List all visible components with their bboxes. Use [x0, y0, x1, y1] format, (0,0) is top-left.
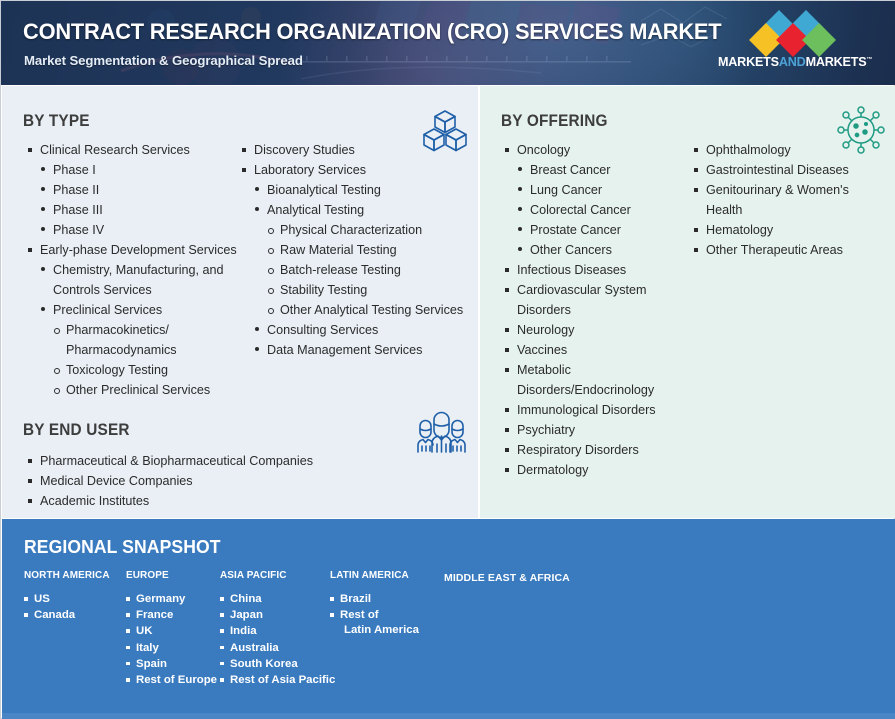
logo-trademark: ™ [866, 57, 872, 63]
list-item: Phase I [27, 160, 237, 180]
by-type-list-column-2: Discovery StudiesLaboratory ServicesBioa… [241, 140, 471, 360]
regional-country-item: Rest of [330, 607, 419, 623]
list-item: Phase IV [27, 220, 237, 240]
regional-snapshot-panel: REGIONAL SNAPSHOT NORTH AMERICAUSCanadaE… [2, 519, 895, 719]
regional-column: ASIA PACIFICChinaJapanIndiaAustraliaSout… [220, 569, 335, 688]
regional-country-item: Japan [220, 607, 335, 623]
list-item: Hematology [693, 220, 883, 240]
regional-country-list: USCanada [24, 591, 114, 623]
list-item: Neurology [504, 320, 684, 340]
logo-word-markets-2: MARKETS [806, 55, 867, 69]
list-item: Physical Characterization [241, 220, 471, 240]
list-item: Psychiatry [504, 420, 684, 440]
regional-country-item: India [220, 623, 335, 639]
regional-country-item: South Korea [220, 656, 335, 672]
logo-word-and: AND [779, 55, 806, 69]
regional-country-item: Italy [126, 640, 217, 656]
regional-column-title: ASIA PACIFIC [220, 569, 330, 581]
list-item: Infectious Diseases [504, 260, 684, 280]
list-item: Bioanalytical Testing [241, 180, 471, 200]
list-item: Colorectal Cancer [504, 200, 684, 220]
regional-column: EUROPEGermanyFranceUKItalySpainRest of E… [126, 569, 217, 688]
by-offering-title: BY OFFERING [501, 112, 608, 131]
regional-country-item: Canada [24, 607, 114, 623]
list-item: Vaccines [504, 340, 684, 360]
list-item: Other Therapeutic Areas [693, 240, 883, 260]
page-title: CONTRACT RESEARCH ORGANIZATION (CRO) SER… [23, 19, 721, 45]
by-offering-list-column-1: OncologyBreast CancerLung CancerColorect… [504, 140, 684, 480]
list-item: Genitourinary & Women's Health [693, 180, 883, 220]
logo-diamonds-icon [718, 15, 868, 53]
regional-column: LATIN AMERICABrazilRest ofLatin America [330, 569, 419, 639]
by-end-user-list: Pharmaceutical & Biopharmaceutical Compa… [27, 451, 447, 511]
regional-country-item: Rest of Asia Pacific [220, 672, 335, 688]
logo-word-markets-1: MARKETS [718, 55, 779, 69]
list-item: Phase III [27, 200, 237, 220]
regional-column-title: EUROPE [126, 569, 212, 581]
list-item: Immunological Disorders [504, 400, 684, 420]
list-item: Early-phase Development Services [27, 240, 237, 260]
by-type-title: BY TYPE [23, 112, 90, 131]
list-item: Other Cancers [504, 240, 684, 260]
regional-country-item: US [24, 591, 114, 607]
list-item: Prostate Cancer [504, 220, 684, 240]
regional-country-list: GermanyFranceUKItalySpainRest of Europe [126, 591, 217, 688]
list-item: Laboratory Services [241, 160, 471, 180]
list-item: Ophthalmology [693, 140, 883, 160]
regional-country-item: France [126, 607, 217, 623]
list-item: Clinical Research Services [27, 140, 237, 160]
regional-country-list: BrazilRest ofLatin America [330, 591, 419, 639]
regional-country-item: Brazil [330, 591, 419, 607]
regional-country-item: Germany [126, 591, 217, 607]
list-item: Phase II [27, 180, 237, 200]
regional-country-item: Rest of Europe [126, 672, 217, 688]
brand-logo: MARKETSANDMARKETS™ [718, 15, 868, 73]
regional-column-title: NORTH AMERICA [24, 569, 110, 581]
page-subtitle: Market Segmentation & Geographical Sprea… [24, 53, 303, 68]
logo-wordmark: MARKETSANDMARKETS™ [718, 55, 868, 69]
list-item: Respiratory Disorders [504, 440, 684, 460]
list-item: Data Management Services [241, 340, 471, 360]
list-item: Other Analytical Testing Services [241, 300, 471, 320]
list-item: Preclinical Services [27, 300, 237, 320]
list-item: Batch-release Testing [241, 260, 471, 280]
list-item: Oncology [504, 140, 684, 160]
regional-country-item: Australia [220, 640, 335, 656]
list-item: Pharmaceutical & Biopharmaceutical Compa… [27, 451, 447, 471]
list-item: Pharmacokinetics/ Pharmacodynamics [27, 320, 237, 360]
list-item: Raw Material Testing [241, 240, 471, 260]
regional-country-item: China [220, 591, 335, 607]
page-header: CONTRACT RESEARCH ORGANIZATION (CRO) SER… [1, 1, 895, 85]
list-item: Other Preclinical Services [27, 380, 237, 400]
regional-column: NORTH AMERICAUSCanada [24, 569, 114, 623]
by-end-user-title: BY END USER [23, 421, 130, 440]
list-item: Consulting Services [241, 320, 471, 340]
list-item: Toxicology Testing [27, 360, 237, 380]
list-item: Academic Institutes [27, 491, 447, 511]
regional-column-title: LATIN AMERICA [330, 569, 414, 581]
regional-snapshot-title: REGIONAL SNAPSHOT [24, 536, 221, 558]
list-item: Metabolic Disorders/Endocrinology [504, 360, 684, 400]
regional-country-list: ChinaJapanIndiaAustraliaSouth KoreaRest … [220, 591, 335, 688]
by-offering-list-column-2: OphthalmologyGastrointestinal DiseasesGe… [693, 140, 883, 260]
footer-strip [2, 713, 895, 719]
list-item: Lung Cancer [504, 180, 684, 200]
list-item: Medical Device Companies [27, 471, 447, 491]
list-item: Cardiovascular System Disorders [504, 280, 684, 320]
list-item: Chemistry, Manufacturing, and Controls S… [27, 260, 237, 300]
regional-country-item: UK [126, 623, 217, 639]
region-label-middle-east-africa: MIDDLE EAST & AFRICA [444, 572, 570, 584]
infographic-root: CONTRACT RESEARCH ORGANIZATION (CRO) SER… [0, 0, 895, 719]
list-item: Stability Testing [241, 280, 471, 300]
list-item: Discovery Studies [241, 140, 471, 160]
list-item: Dermatology [504, 460, 684, 480]
list-item: Breast Cancer [504, 160, 684, 180]
regional-country-item: Spain [126, 656, 217, 672]
list-item: Analytical Testing [241, 200, 471, 220]
list-item: Gastrointestinal Diseases [693, 160, 883, 180]
regional-country-item: Latin America [330, 622, 419, 638]
by-type-list-column-1: Clinical Research ServicesPhase IPhase I… [27, 140, 237, 400]
